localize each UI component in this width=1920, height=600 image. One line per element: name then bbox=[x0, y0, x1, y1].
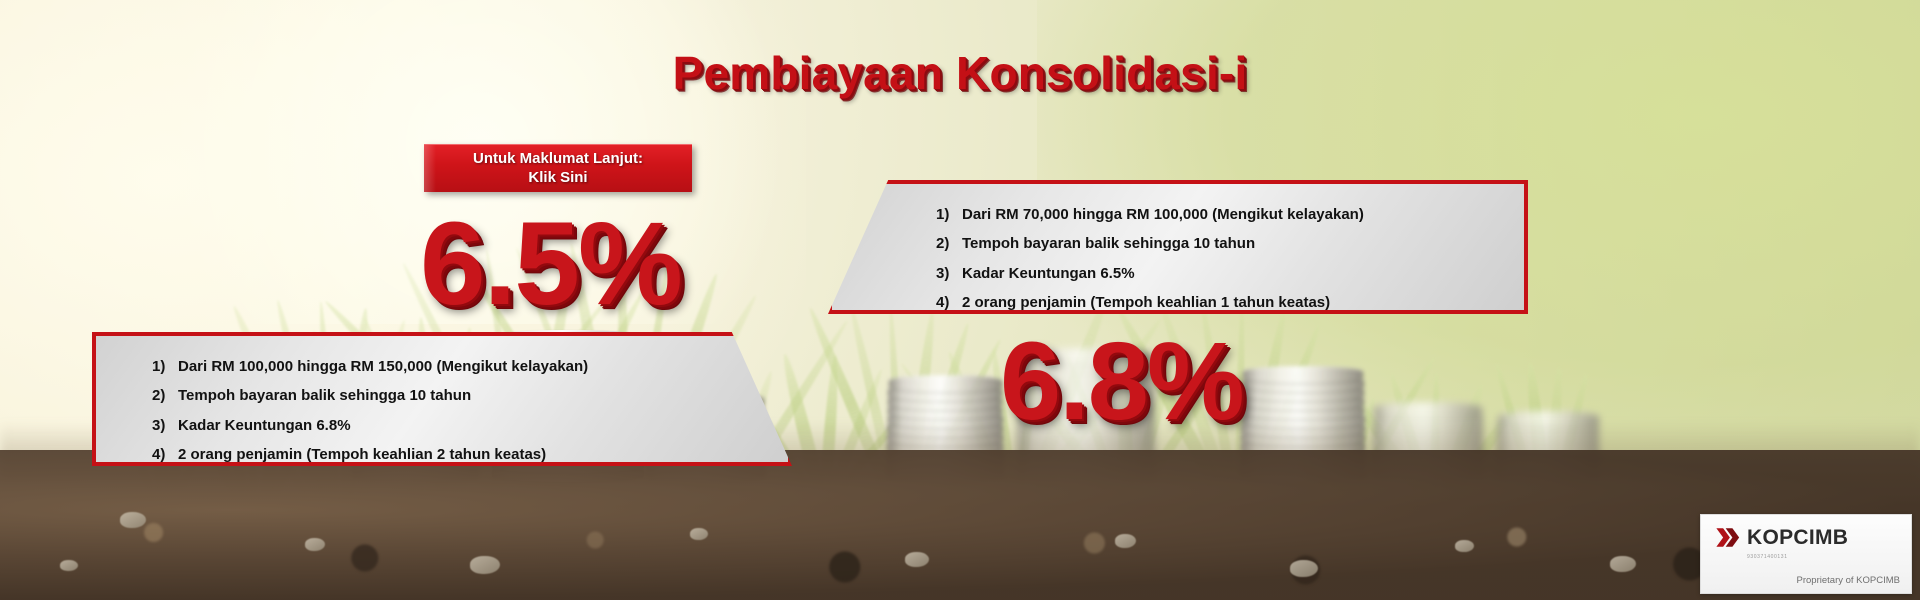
list-item: 4) 2 orang penjamin (Tempoh keahlian 1 t… bbox=[936, 294, 1364, 311]
kopcimb-logo-box: KOPCIMB 930371400131 Proprietary of KOPC… bbox=[1700, 514, 1912, 594]
item-number: 2) bbox=[152, 387, 178, 404]
logo-row: KOPCIMB bbox=[1713, 524, 1899, 551]
soil-ground bbox=[0, 450, 1920, 600]
info-panel-tier2: 1) Dari RM 100,000 hingga RM 150,000 (Me… bbox=[92, 332, 792, 466]
more-info-button[interactable]: Untuk Maklumat Lanjut: Klik Sini bbox=[424, 144, 692, 192]
coin bbox=[889, 375, 1002, 392]
page-title: Pembiayaan Konsolidasi-i bbox=[0, 46, 1920, 100]
rate-upper: 6.5% bbox=[420, 196, 681, 332]
item-text: Kadar Keuntungan 6.5% bbox=[962, 265, 1135, 282]
list-item: 1) Dari RM 100,000 hingga RM 150,000 (Me… bbox=[152, 358, 588, 375]
item-number: 3) bbox=[936, 265, 962, 282]
list-item: 3) Kadar Keuntungan 6.5% bbox=[936, 265, 1364, 282]
item-text: 2 orang penjamin (Tempoh keahlian 2 tahu… bbox=[178, 446, 546, 463]
info-list-tier2: 1) Dari RM 100,000 hingga RM 150,000 (Me… bbox=[152, 358, 588, 463]
item-text: Tempoh bayaran balik sehingga 10 tahun bbox=[962, 235, 1255, 252]
item-number: 3) bbox=[152, 417, 178, 434]
poster-stage: Pembiayaan Konsolidasi-i Untuk Maklumat … bbox=[0, 0, 1920, 600]
more-info-line1: Untuk Maklumat Lanjut: bbox=[473, 150, 643, 169]
item-number: 1) bbox=[936, 206, 962, 223]
list-item: 2) Tempoh bayaran balik sehingga 10 tahu… bbox=[152, 387, 588, 404]
info-panel-tier1: 1) Dari RM 70,000 hingga RM 100,000 (Men… bbox=[828, 180, 1528, 314]
item-text: Dari RM 100,000 hingga RM 150,000 (Mengi… bbox=[178, 358, 588, 375]
pebble bbox=[1455, 540, 1474, 552]
list-item: 2) Tempoh bayaran balik sehingga 10 tahu… bbox=[936, 235, 1364, 252]
kopcimb-wordmark: KOPCIMB bbox=[1747, 526, 1848, 550]
info-list-tier1: 1) Dari RM 70,000 hingga RM 100,000 (Men… bbox=[936, 206, 1364, 311]
pebble bbox=[690, 528, 708, 540]
list-item: 3) Kadar Keuntungan 6.8% bbox=[152, 417, 588, 434]
item-text: Kadar Keuntungan 6.8% bbox=[178, 417, 351, 434]
item-number: 2) bbox=[936, 235, 962, 252]
item-number: 1) bbox=[152, 358, 178, 375]
item-text: Tempoh bayaran balik sehingga 10 tahun bbox=[178, 387, 471, 404]
coin bbox=[1243, 366, 1364, 383]
item-number: 4) bbox=[936, 294, 962, 311]
logo-registration-code: 930371400131 bbox=[1747, 554, 1899, 560]
coin bbox=[1374, 402, 1483, 419]
more-info-line2: Klik Sini bbox=[528, 169, 587, 188]
rate-lower: 6.8% bbox=[1000, 318, 1243, 445]
item-text: Dari RM 70,000 hingga RM 100,000 (Mengik… bbox=[962, 206, 1364, 223]
list-item: 1) Dari RM 70,000 hingga RM 100,000 (Men… bbox=[936, 206, 1364, 223]
kopcimb-mark-icon bbox=[1713, 524, 1740, 551]
list-item: 4) 2 orang penjamin (Tempoh keahlian 2 t… bbox=[152, 446, 588, 463]
proprietary-notice: Proprietary of KOPCIMB bbox=[1797, 575, 1900, 586]
item-text: 2 orang penjamin (Tempoh keahlian 1 tahu… bbox=[962, 294, 1330, 311]
item-number: 4) bbox=[152, 446, 178, 463]
